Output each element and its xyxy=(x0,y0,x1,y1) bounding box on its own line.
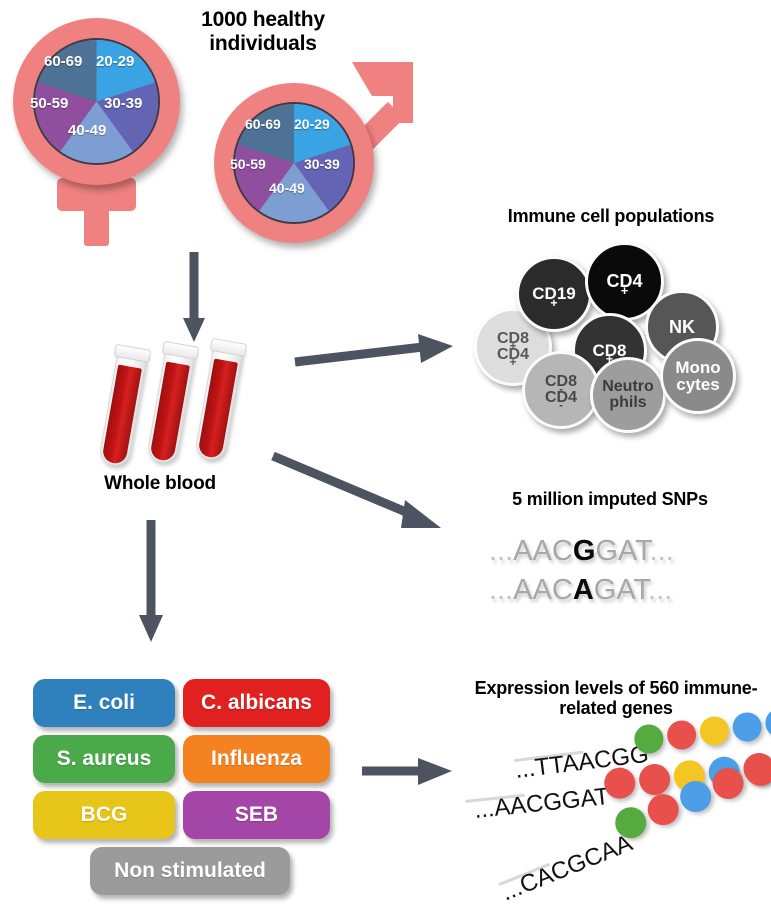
dna-bead xyxy=(698,715,730,747)
dna-sequence-text: ...CACGCAA xyxy=(498,829,637,907)
dna-bead xyxy=(665,719,697,751)
dna-strand-group: ...TTAACGG...AACGGAT...CACGCAA xyxy=(0,0,771,922)
dna-sequence-text: ...AACGGAT xyxy=(473,783,611,825)
diagram-canvas: 1000 healthy individuals 20-29 30-39 40-… xyxy=(0,0,771,922)
dna-bead xyxy=(764,707,771,739)
dna-bead xyxy=(731,711,763,743)
